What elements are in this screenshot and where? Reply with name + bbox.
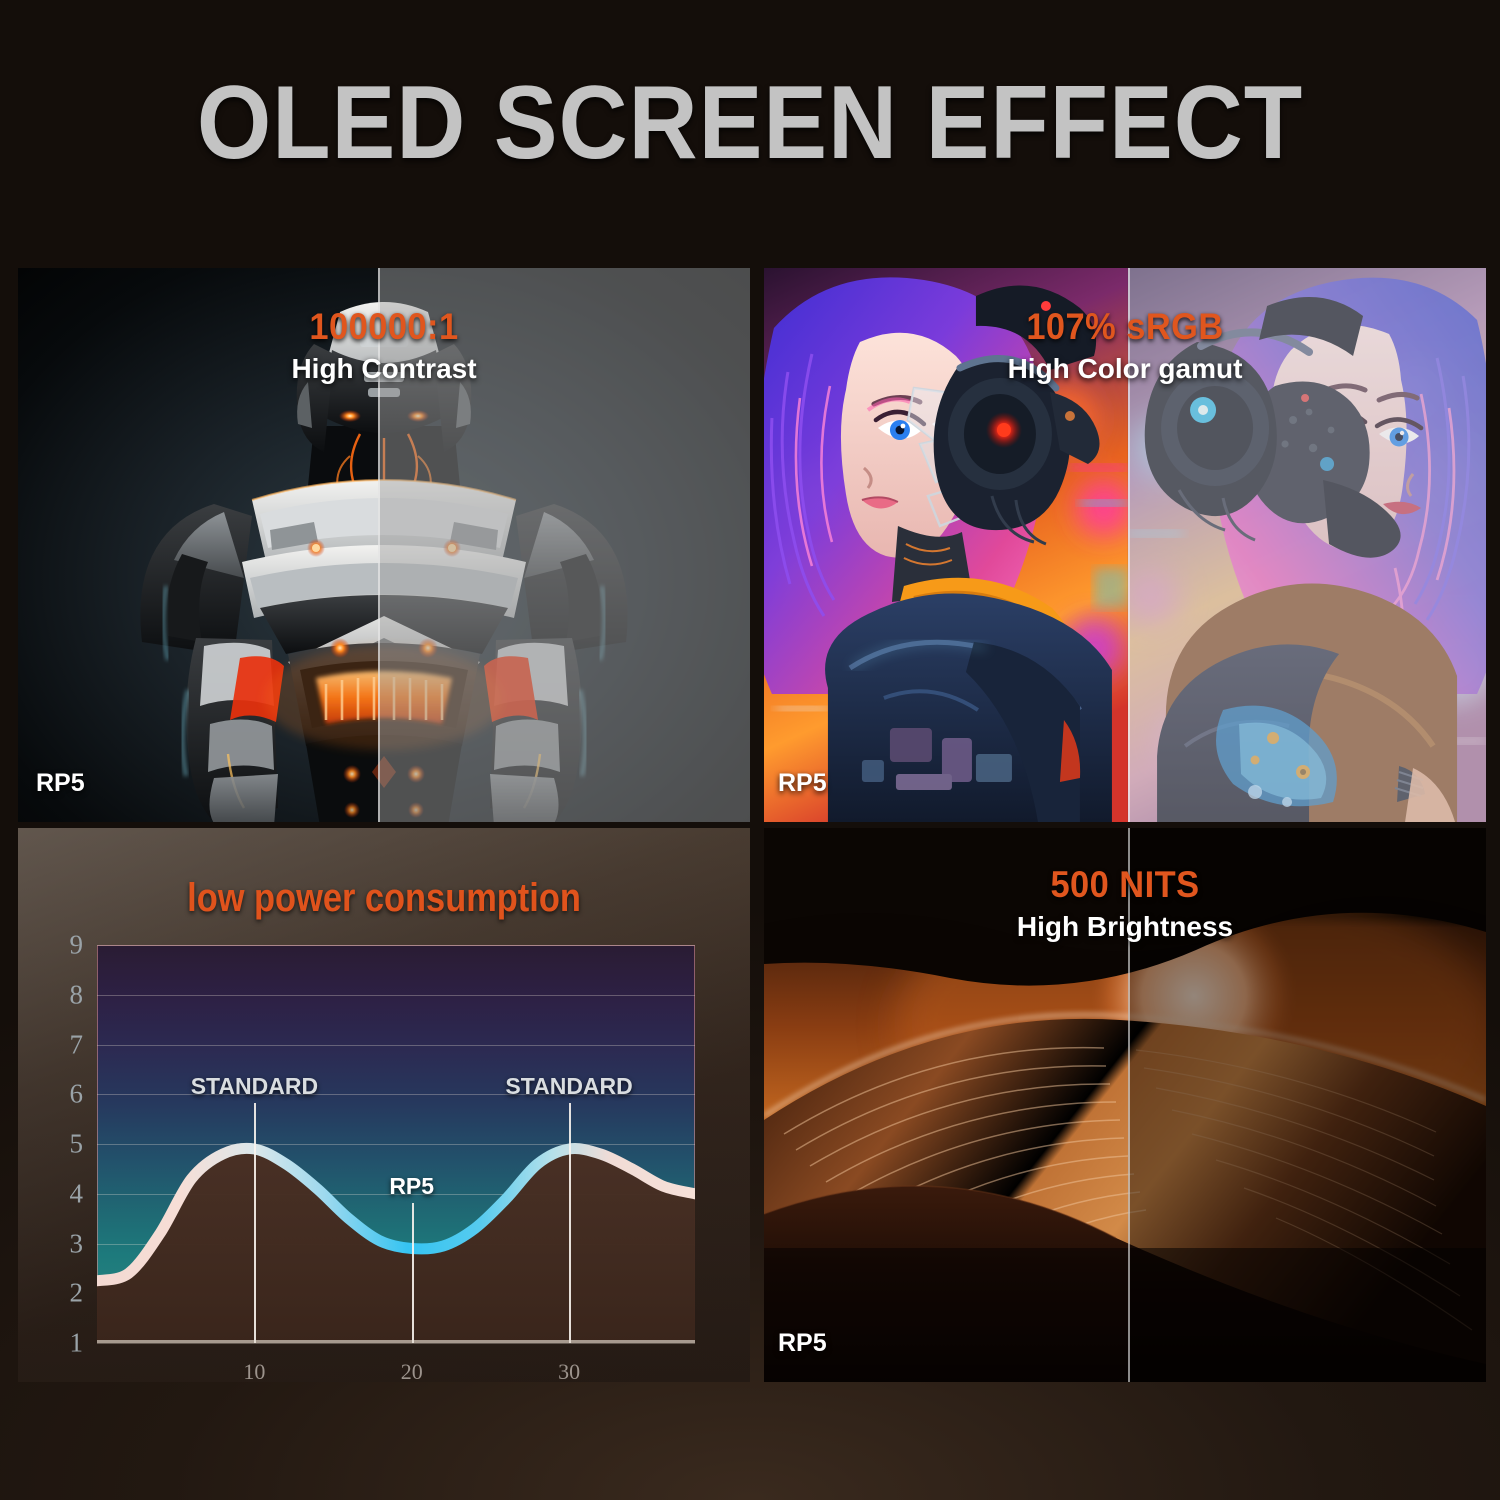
chart-title: low power consumption [69,876,699,921]
chart-y-tick: 7 [70,1029,84,1060]
panel-high-contrast: 100000:1 High Contrast RP5 [18,268,750,822]
chart-y-tick: 8 [70,979,84,1010]
chart-marker-line [569,1103,571,1343]
chart-annotation: STANDARD [505,1073,632,1100]
rp5-tag-brightness: RP5 [778,1329,827,1358]
panel-high-brightness: RETROID RETROID pocket 500 NITS High Bri… [764,828,1486,1382]
dim-brightness-overlay [1128,828,1486,1382]
chart-y-tick: 5 [70,1129,84,1160]
chart-y-tick: 4 [70,1178,84,1209]
panel-color-gamut: 107% sRGB High Color gamut RP5 [764,268,1486,822]
mecha-image [18,268,750,822]
page-title: OLED SCREEN EFFECT [60,64,1440,183]
chart-y-tick: 9 [70,930,84,961]
rp5-tag-gamut: RP5 [778,769,827,798]
chart-markers: STANDARDRP5STANDARD [97,945,695,1343]
chart-x-tick: 20 [401,1359,423,1382]
dune-image: RETROID RETROID pocket [764,828,1486,1382]
chart-y-tick: 1 [70,1328,84,1359]
chart-y-tick: 6 [70,1079,84,1110]
chart-baseline [97,1340,695,1343]
chart-x-tick: 10 [243,1359,265,1382]
chart-annotation: STANDARD [191,1073,318,1100]
cyber-girl-vivid [764,268,1128,822]
washed-out-overlay [1128,268,1486,822]
rp5-tag-contrast: RP5 [36,769,85,798]
chart-annotation: RP5 [389,1173,434,1200]
infographic-page: OLED SCREEN EFFECT [0,0,1500,1500]
cyber-girl-washed [1128,268,1486,822]
chart-marker-line [254,1103,256,1343]
chart-plot-area: 987654321 102030 [97,945,695,1343]
low-contrast-overlay-2 [378,268,750,822]
chart-x-tick: 30 [558,1359,580,1382]
chart-gridline [97,1343,695,1344]
chart-y-tick: 3 [70,1228,84,1259]
panel-low-power: low power consumption 987654321 102030 [18,828,750,1382]
chart-marker-line [412,1203,414,1344]
chart-y-tick: 2 [70,1278,84,1309]
